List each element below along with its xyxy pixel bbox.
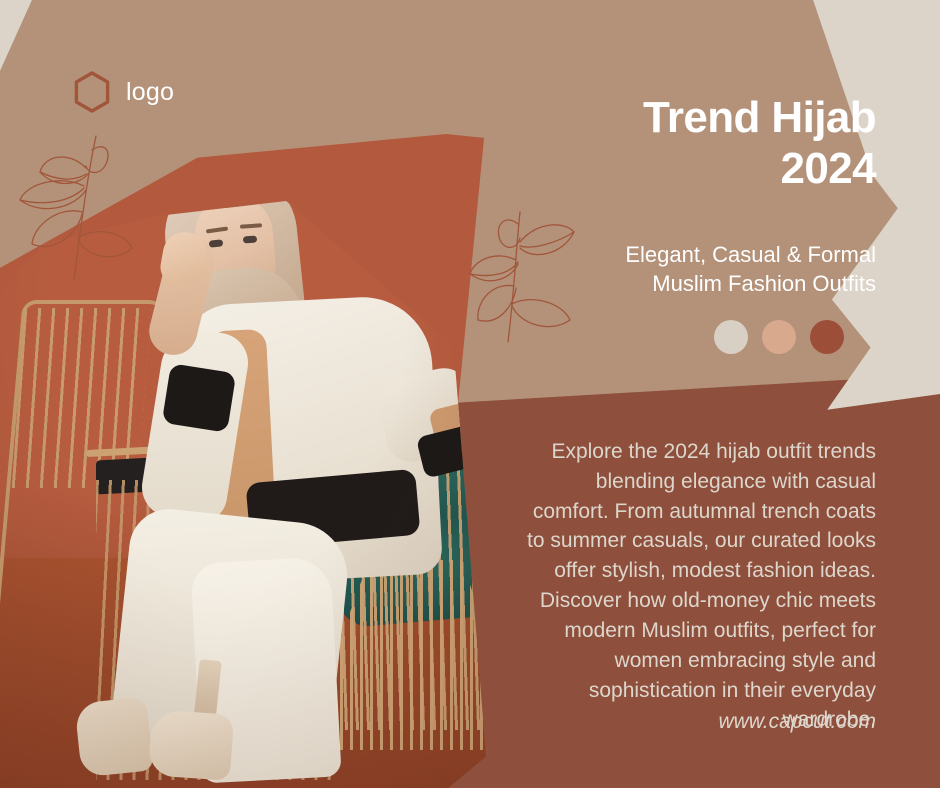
shoe-left	[74, 696, 153, 777]
hexagon-outline-icon	[72, 70, 112, 114]
body-paragraph: Explore the 2024 hijab outfit trends ble…	[520, 437, 876, 735]
website-url[interactable]: www.capcut.com	[520, 710, 876, 734]
color-swatch-group	[714, 320, 844, 354]
brand-logo[interactable]: logo	[72, 70, 174, 114]
leaf-branch-icon-left	[8, 128, 158, 288]
headline-line-1: Trend Hijab	[643, 93, 876, 142]
subtitle-line-1: Elegant, Casual & Formal	[540, 240, 876, 269]
subtitle-line-2: Muslim Fashion Outfits	[540, 269, 876, 298]
logo-text: logo	[126, 78, 174, 107]
headline-line-2: 2024	[560, 143, 876, 194]
swatch-peach[interactable]	[762, 320, 796, 354]
swatch-cream[interactable]	[714, 320, 748, 354]
swatch-rust[interactable]	[810, 320, 844, 354]
page-title: Trend Hijab 2024	[560, 92, 876, 194]
poster-canvas: logo Trend Hijab 2024 Elegant, Casual & …	[0, 0, 940, 788]
shoe-right	[148, 709, 234, 781]
sleeve-black-block	[162, 363, 237, 433]
subtitle: Elegant, Casual & Formal Muslim Fashion …	[540, 240, 876, 298]
model-eye-right	[243, 236, 257, 244]
